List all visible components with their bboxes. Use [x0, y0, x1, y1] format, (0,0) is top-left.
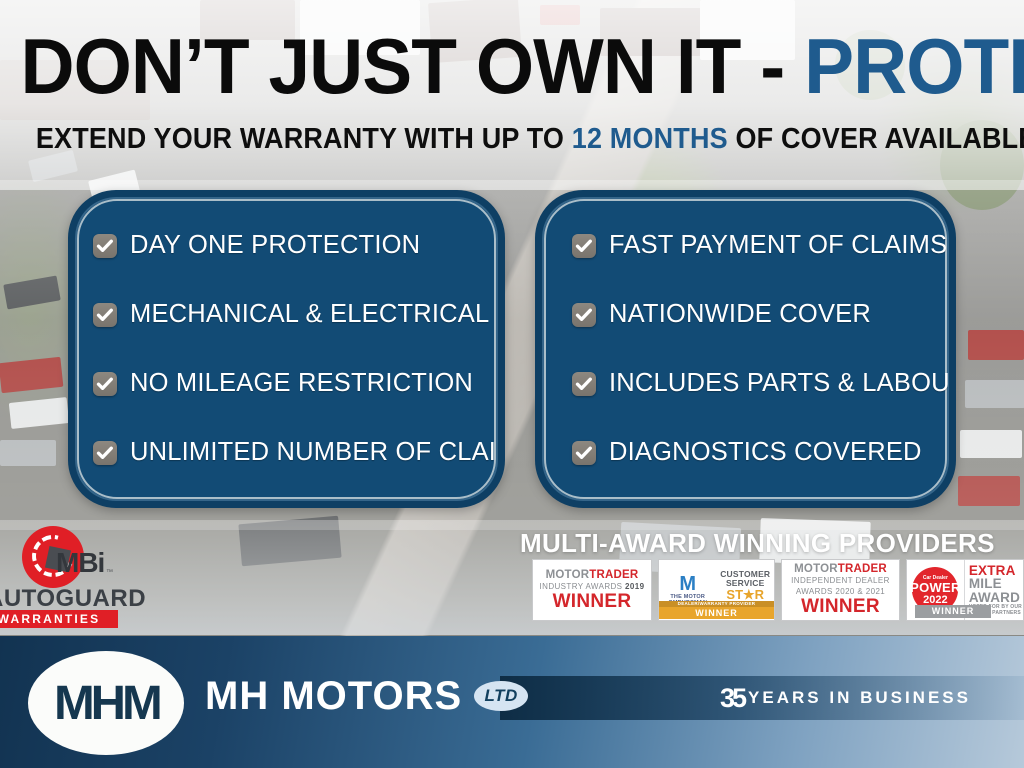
feature-label: MECHANICAL & ELECTRICAL	[130, 300, 489, 329]
feature-label: DAY ONE PROTECTION	[130, 231, 420, 260]
badge-subtitle: INDUSTRY AWARDS 2019	[540, 581, 645, 592]
subheadline-part-2: OF COVER AVAILABLE	[728, 123, 1024, 155]
badge-result-ribbon: DEALER/WARRANTY PROVIDER WINNER	[659, 601, 774, 619]
features-panel-left: DAY ONE PROTECTION MECHANICAL & ELECTRIC…	[68, 190, 505, 508]
badge-brand-grey: MOTOR	[546, 569, 590, 581]
badge-result: WINNER	[915, 605, 991, 618]
headline-part-2: PROTECT IT	[804, 22, 1024, 110]
award-badge-motortrader-2019: MOTORTRADER INDUSTRY AWARDS 2019 WINNER	[532, 559, 652, 621]
features-panel-right: FAST PAYMENT OF CLAIMS NATIONWIDE COVER …	[535, 190, 956, 508]
badge-result: WINNER	[695, 608, 738, 618]
checkbox-checked-icon	[93, 372, 117, 396]
badge-subtitle-text: INDUSTRY AWARDS	[540, 582, 623, 591]
checkbox-checked-icon	[572, 234, 596, 258]
feature-label: FAST PAYMENT OF CLAIMS	[609, 231, 947, 260]
feature-list-right: FAST PAYMENT OF CLAIMS NATIONWIDE COVER …	[542, 197, 949, 501]
company-name-lockup: MH MOTORS LTD	[205, 672, 528, 720]
ltd-badge: LTD	[474, 681, 528, 711]
badge-extra-line3: AWARD	[969, 591, 1020, 605]
subheadline-highlight: 12 MONTHS	[572, 123, 728, 155]
badge-extra-line1: EXTRA	[969, 564, 1016, 578]
mhm-monogram: MHM	[54, 676, 159, 731]
badge-power-section: Car Dealer POWER 2022 WINNER	[907, 560, 964, 620]
checkbox-checked-icon	[93, 303, 117, 327]
subheadline-part-1: EXTEND YOUR WARRANTY WITH UP TO	[36, 123, 572, 155]
award-badge-car-dealer-power-2022: Car Dealer POWER 2022 WINNER EXTRA MILE …	[906, 559, 1024, 621]
checkbox-checked-icon	[93, 234, 117, 258]
mbi-autoguard-logo: MBi ™ AUTOGUARD WARRANTIES	[0, 525, 139, 625]
badge-year: 2022	[923, 594, 947, 606]
ltd-badge-label: LTD	[485, 686, 518, 706]
award-badges-row: MOTORTRADER INDUSTRY AWARDS 2019 WINNER …	[532, 559, 1024, 621]
feature-item: MECHANICAL & ELECTRICAL	[93, 280, 480, 349]
badge-award-word: POWER	[910, 581, 961, 594]
award-badge-motortrader-2020-2021: MOTORTRADER INDEPENDENT DEALER AWARDS 20…	[781, 559, 900, 621]
badge-extra-line2: MILE	[969, 577, 1002, 591]
feature-item: DAY ONE PROTECTION	[93, 211, 480, 280]
motor-ombudsman-mark-icon: M	[679, 574, 696, 594]
feature-item: UNLIMITED NUMBER OF CLAIMS	[93, 418, 480, 487]
headline-part-1: DON’T JUST OWN IT -	[20, 22, 804, 110]
badge-brand-red: TRADER	[589, 569, 638, 581]
checkbox-checked-icon	[93, 441, 117, 465]
awards-title: MULTI-AWARD WINNING PROVIDERS	[520, 528, 1024, 558]
feature-label: NATIONWIDE COVER	[609, 300, 871, 329]
badge-result: WINNER	[553, 592, 632, 612]
badge-brand: MOTORTRADER	[794, 563, 887, 575]
checkbox-checked-icon	[572, 372, 596, 396]
badge-result: WINNER	[801, 597, 880, 617]
checkbox-checked-icon	[572, 303, 596, 327]
badge-ribbon-subtitle: DEALER/WARRANTY PROVIDER	[659, 601, 774, 607]
feature-label: DIAGNOSTICS COVERED	[609, 438, 922, 467]
badge-split-row: Car Dealer POWER 2022 WINNER EXTRA MILE …	[907, 560, 1023, 620]
mbi-trademark-symbol: ™	[106, 569, 113, 576]
badge-brand-red: TRADER	[838, 563, 887, 575]
feature-item: NO MILEAGE RESTRICTION	[93, 349, 480, 418]
years-in-business: 35 YEARS IN BUSINESS	[720, 682, 971, 714]
badge-year: 2019	[625, 582, 644, 591]
mbi-autoguard-name: AUTOGUARD	[0, 585, 136, 613]
years-label: YEARS IN BUSINESS	[748, 688, 971, 708]
mhm-logo-mark: MHM	[28, 651, 184, 755]
feature-label: UNLIMITED NUMBER OF CLAIMS	[130, 438, 505, 467]
subheadline: EXTEND YOUR WARRANTY WITH UP TO 12 MONTH…	[36, 122, 988, 156]
badge-subtitle: INDEPENDENT DEALER	[791, 575, 890, 586]
mbi-warranties-tagline: WARRANTIES	[0, 610, 118, 628]
feature-label: NO MILEAGE RESTRICTION	[130, 369, 473, 398]
award-badge-customer-service-star: M THE MOTOR OMBUDSMAN CUSTOMER SERVICE S…	[658, 559, 775, 621]
checkbox-checked-icon	[572, 441, 596, 465]
headline: DON’T JUST OWN IT - PROTECT IT	[20, 24, 1003, 108]
feature-item: DIAGNOSTICS COVERED	[572, 418, 931, 487]
feature-label: INCLUDES PARTS & LABOUR	[609, 369, 956, 398]
company-name: MH MOTORS	[205, 674, 462, 719]
badge-brand-grey: MOTOR	[794, 563, 838, 575]
feature-item: FAST PAYMENT OF CLAIMS	[572, 211, 931, 280]
feature-list-left: DAY ONE PROTECTION MECHANICAL & ELECTRIC…	[75, 197, 498, 501]
feature-item: NATIONWIDE COVER	[572, 280, 931, 349]
years-number: 35	[720, 685, 744, 712]
badge-award-line3: ST★R	[726, 588, 764, 602]
feature-item: INCLUDES PARTS & LABOUR	[572, 349, 931, 418]
mbi-mark-text: MBi	[56, 547, 104, 579]
badge-brand: MOTORTRADER	[546, 569, 639, 581]
